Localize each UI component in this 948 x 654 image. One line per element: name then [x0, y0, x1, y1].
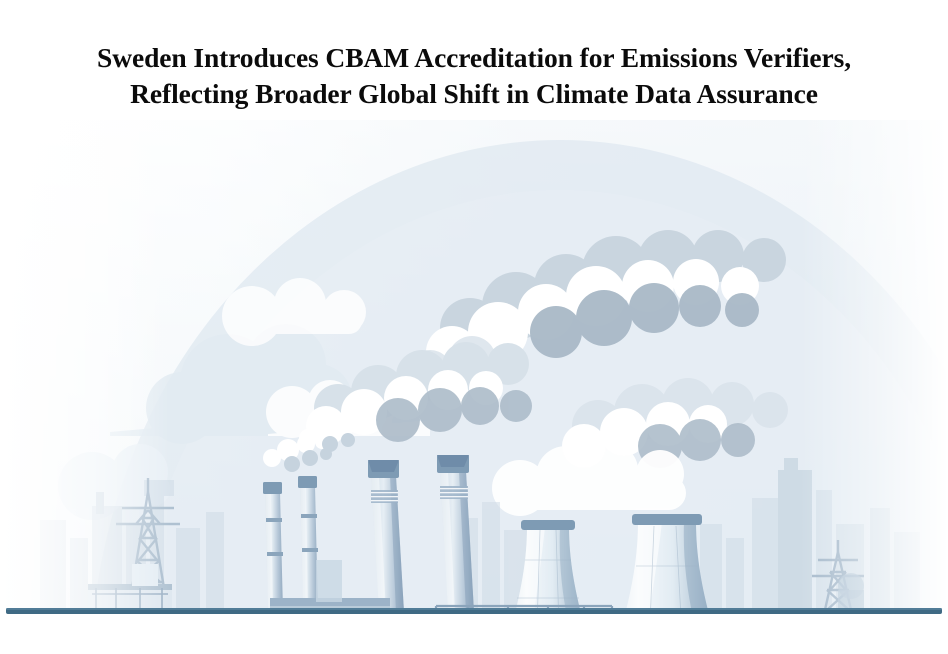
page-title-line-1: Sweden Introduces CBAM Accreditation for… [0, 40, 948, 76]
chimney-band-right [440, 486, 468, 499]
page-title: Sweden Introduces CBAM Accreditation for… [0, 40, 948, 112]
article-page: Sweden Introduces CBAM Accreditation for… [0, 0, 948, 654]
ground-line-highlight [6, 608, 942, 610]
right-edge-fade [800, 120, 948, 618]
hero-illustration [0, 120, 948, 618]
left-edge-fade [0, 120, 170, 618]
page-title-line-2: Reflecting Broader Global Shift in Clima… [0, 76, 948, 112]
chimney-band-left [371, 490, 398, 503]
industrial-scene-svg [0, 120, 948, 618]
below-ground-white [0, 614, 948, 618]
